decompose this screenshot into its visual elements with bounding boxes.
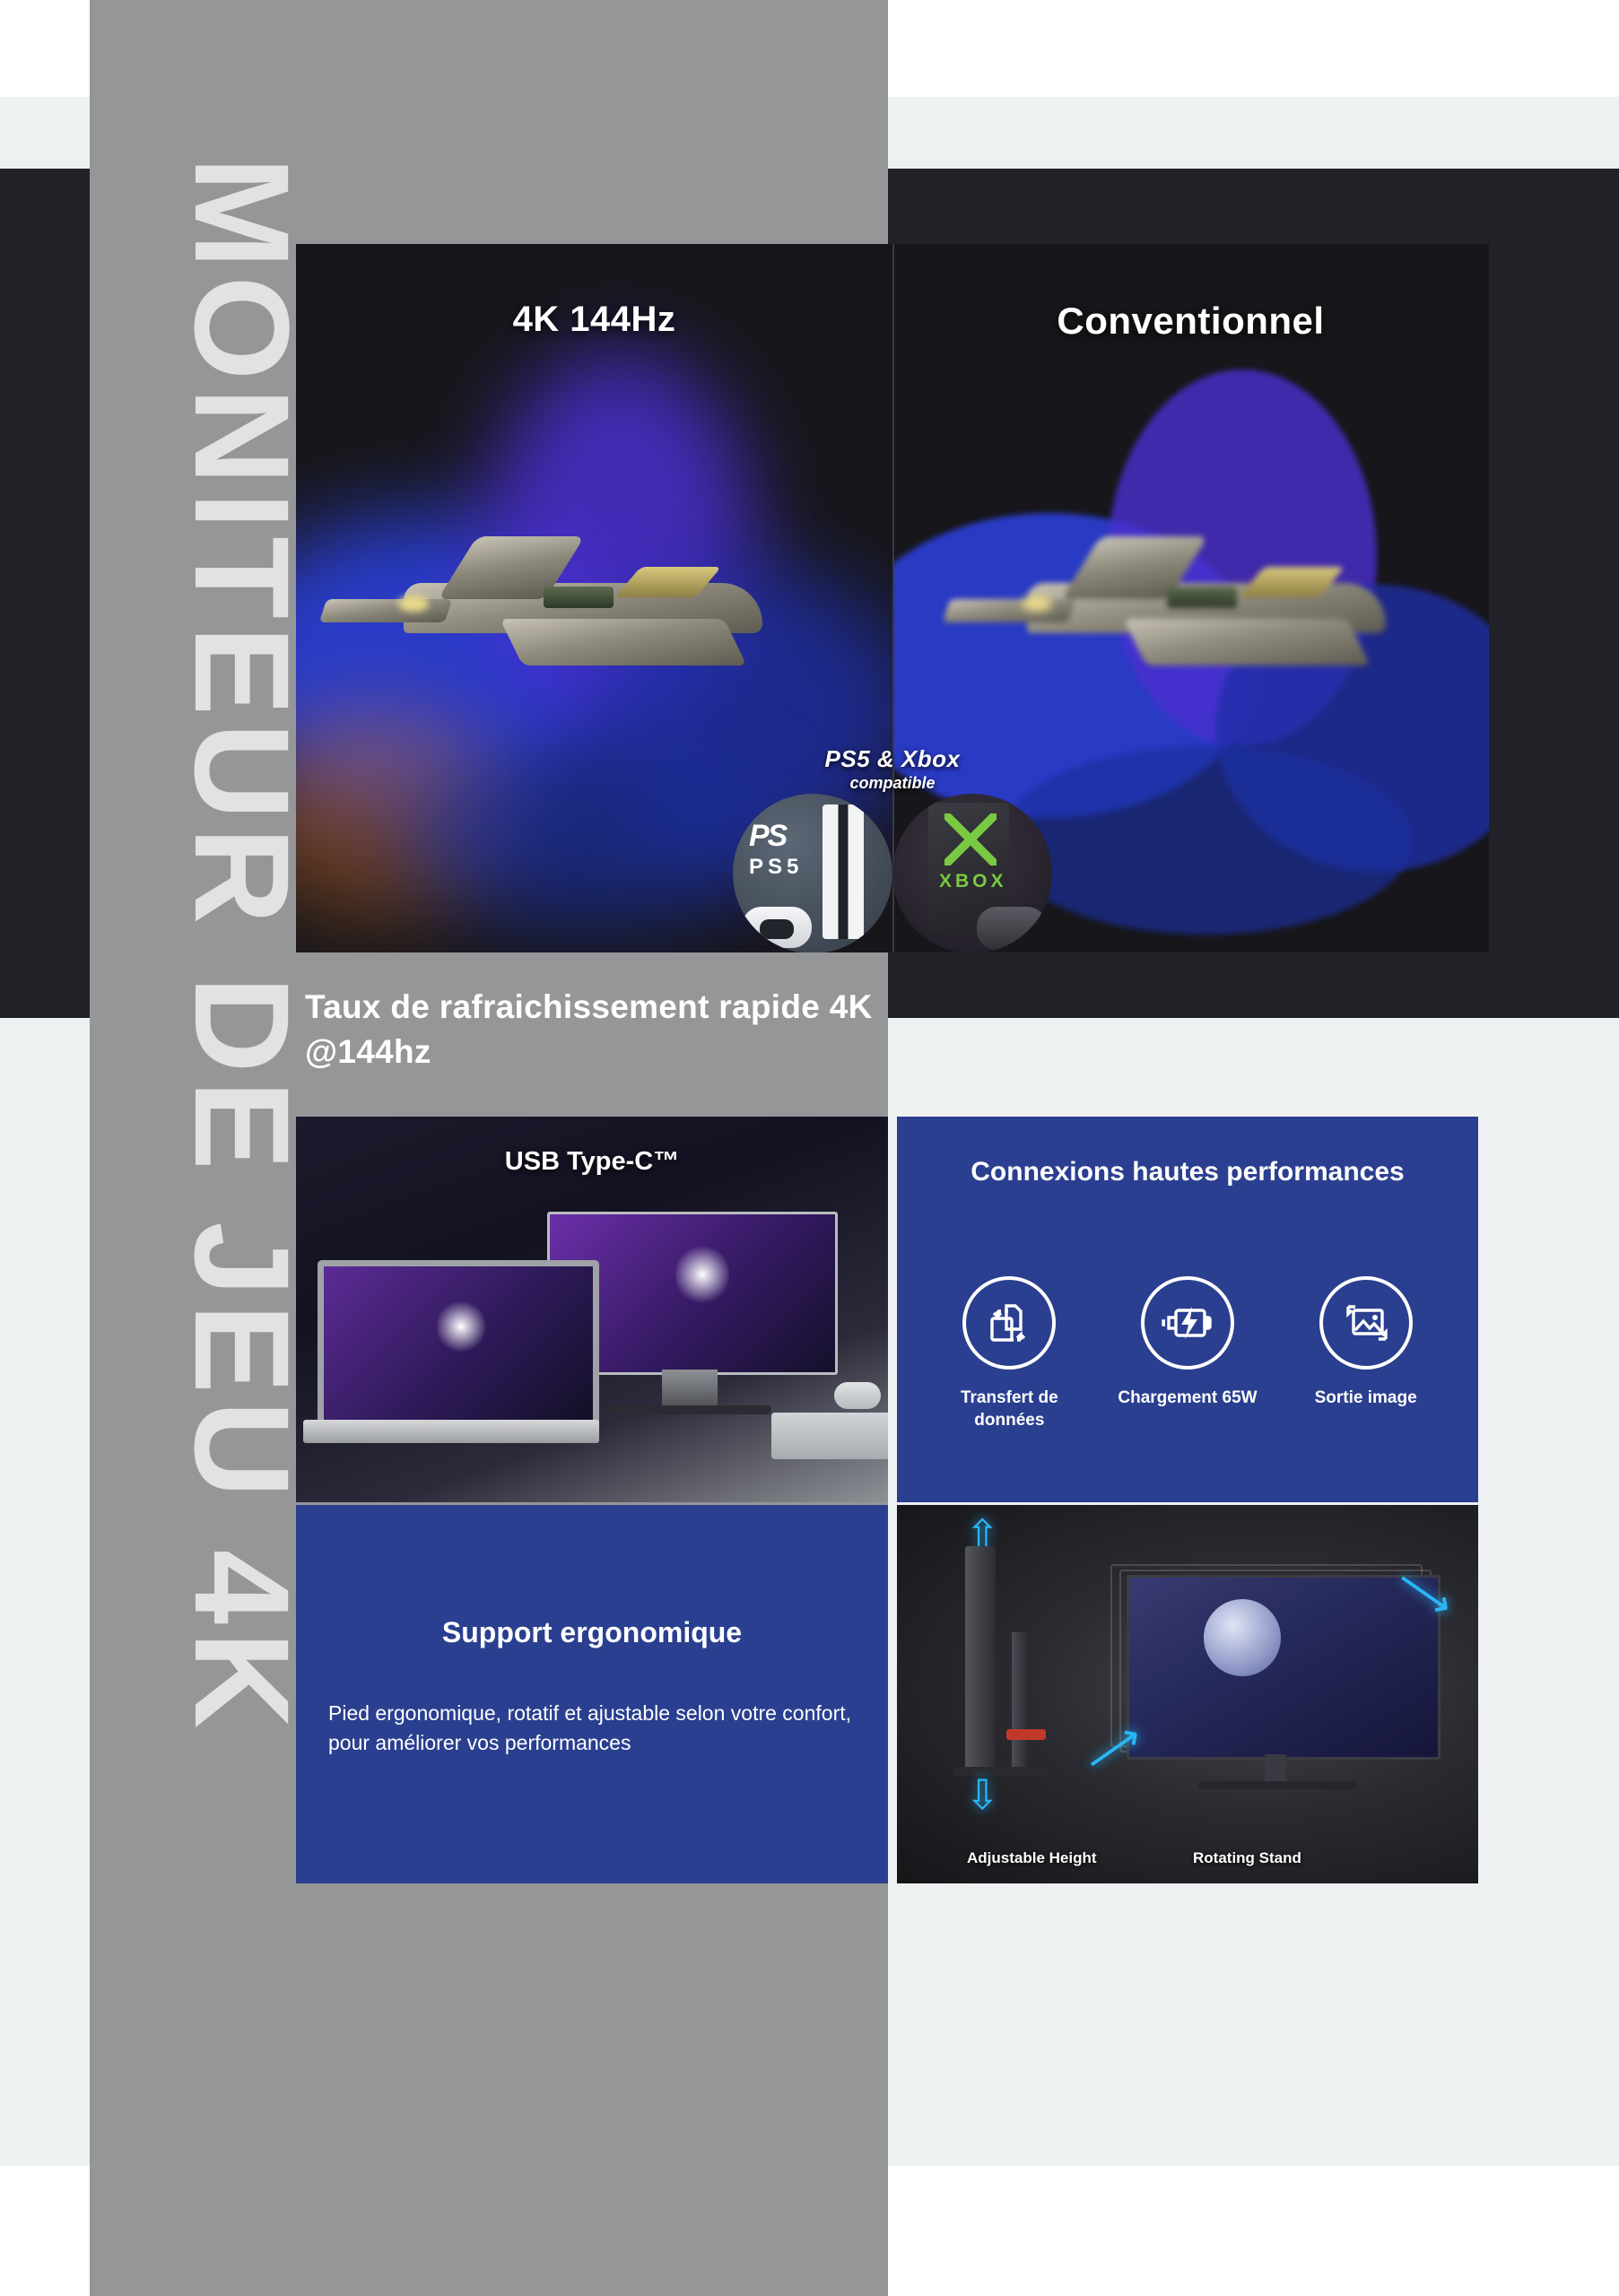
monitor-side-view (965, 1546, 996, 1769)
caption-rotating-stand: Rotating Stand (1193, 1849, 1301, 1867)
panel-stand-features: ⇧ ⇩ ⟶ ⟶ Adjustable Height Rotating Stand (897, 1505, 1478, 1883)
arrow-down-icon: ⇩ (965, 1774, 1000, 1815)
hero-label-conventional: Conventionnel (892, 300, 1489, 343)
monitor-front-view (1127, 1575, 1441, 1760)
battery-charging-icon (1141, 1276, 1234, 1370)
keyboard-image (771, 1413, 888, 1459)
connection-item-label: Chargement 65W (1118, 1387, 1257, 1410)
wallpaper-moon (1204, 1599, 1281, 1676)
spaceship-sharp (323, 513, 834, 719)
connection-item: Chargement 65W (1102, 1276, 1274, 1431)
ps5-console-image (823, 804, 864, 939)
caption-adjustable-height: Adjustable Height (967, 1849, 1097, 1867)
console-badge-title: PS5 & Xbox (296, 745, 1489, 773)
ps5-label: PS5 (749, 855, 803, 880)
image-output-icon (1319, 1276, 1413, 1370)
spaceship-blurred (946, 513, 1458, 719)
connection-item: Sortie image (1280, 1276, 1451, 1431)
xbox-label: XBOX (939, 871, 1007, 892)
background-dark-left (0, 169, 90, 1018)
monitor-base-front (1198, 1781, 1356, 1789)
playstation-logo-icon: PS (749, 819, 786, 854)
monitor-stand (662, 1370, 718, 1409)
ps5-controller-image (742, 907, 812, 948)
panel-connections: Connexions hautes performances Transfert… (897, 1117, 1478, 1502)
mouse-image (834, 1382, 881, 1409)
monitor-neck-front (1265, 1754, 1286, 1785)
panel-usb-type-c: USB Type-C™ (296, 1117, 888, 1502)
xbox-badge: XBOX (892, 794, 1052, 952)
hero-label-4k: 4K 144Hz (296, 300, 892, 340)
xbox-controller-image (977, 907, 1047, 950)
console-compat-badge: PS5 & Xbox compatible PS PS5 XBOX (296, 760, 1489, 952)
playstation-badge: PS PS5 (733, 794, 892, 952)
page-headline: Taux de rafraichissement rapide 4K @144h… (305, 985, 879, 1074)
xbox-x-logo-icon (944, 813, 997, 865)
ergonomic-body-text: Pied ergonomique, rotatif et ajustable s… (328, 1699, 854, 1759)
vertical-brand-title: MONITEUR DE JEU 4K (175, 274, 309, 1619)
connection-item: Transfert de données (924, 1276, 1095, 1431)
laptop-base (303, 1420, 599, 1443)
monitor-foot (608, 1405, 771, 1414)
console-badge-subtitle: compatible (296, 774, 1489, 793)
laptop-screen-image (318, 1260, 599, 1434)
connections-items: Transfert de données Chargement 65W (897, 1276, 1478, 1431)
hero-comparison-image: 4K 144Hz Conventionnel PS5 & Xbox compat… (296, 244, 1489, 952)
ergonomic-title: Support ergonomique (296, 1616, 888, 1649)
monitor-neck (1012, 1632, 1028, 1769)
height-adjust-marker (1006, 1729, 1046, 1740)
connection-item-label: Transfert de données (924, 1387, 1095, 1431)
connections-title: Connexions hautes performances (897, 1154, 1478, 1191)
connection-item-label: Sortie image (1315, 1387, 1417, 1410)
panel-ergonomic-support: Support ergonomique Pied ergonomique, ro… (296, 1505, 888, 1883)
stand-scene-image: ⇧ ⇩ ⟶ ⟶ Adjustable Height Rotating Stand (897, 1505, 1478, 1883)
usb-type-c-title: USB Type-C™ (296, 1147, 888, 1177)
data-transfer-icon (962, 1276, 1056, 1370)
